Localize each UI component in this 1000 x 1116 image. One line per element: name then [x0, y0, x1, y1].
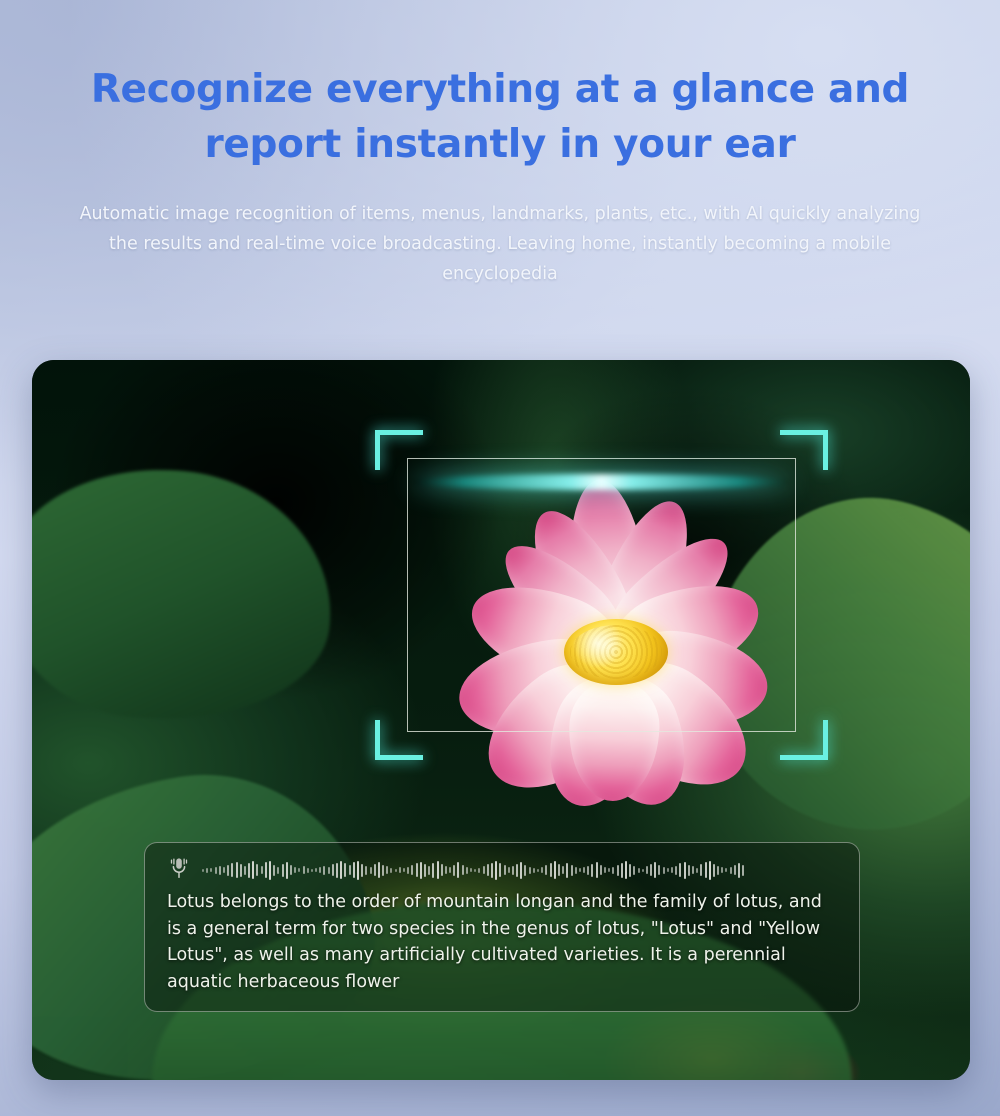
waveform-bar: [705, 862, 707, 878]
waveform-bar: [688, 865, 690, 876]
waveform-bar: [650, 864, 652, 876]
waveform-bar: [261, 866, 263, 874]
waveform-bar: [349, 865, 351, 875]
waveform-bar: [428, 866, 430, 875]
waveform-bar: [499, 863, 501, 877]
waveform-bar: [378, 862, 380, 878]
waveform-bar: [416, 863, 418, 877]
waveform-bar: [256, 864, 258, 876]
waveform-bar: [202, 869, 204, 872]
waveform-bar: [365, 866, 367, 875]
waveform-bar: [432, 863, 434, 878]
waveform-bar: [621, 863, 623, 878]
waveform-bar: [240, 864, 242, 877]
waveform-bar: [252, 861, 254, 879]
page-title: Recognize everything at a glance and rep…: [0, 62, 1000, 173]
scan-corner-top-left: [375, 430, 423, 470]
audio-waveform: [202, 859, 837, 881]
waveform-bar: [696, 868, 698, 873]
waveform-bar: [713, 864, 715, 877]
waveform-bar: [508, 867, 510, 873]
waveform-bar: [512, 866, 514, 875]
waveform-bar: [550, 863, 552, 877]
waveform-bar: [219, 866, 221, 875]
waveform-bar: [353, 862, 355, 878]
waveform-bar: [453, 865, 455, 876]
waveform-bar: [244, 866, 246, 875]
waveform-bar: [562, 866, 564, 874]
microphone-icon: [167, 856, 191, 884]
waveform-bar: [370, 867, 372, 874]
waveform-bar: [524, 865, 526, 876]
waveform-bar: [520, 862, 522, 879]
waveform-bar: [671, 867, 673, 873]
waveform-bar: [403, 868, 405, 872]
waveform-bar: [437, 861, 439, 879]
waveform-bar: [675, 866, 677, 875]
waveform-bar: [303, 866, 305, 874]
waveform-bar: [323, 866, 325, 875]
waveform-bar: [470, 868, 472, 872]
page-subtitle: Automatic image recognition of items, me…: [0, 199, 1000, 289]
waveform-bar: [407, 867, 409, 874]
waveform-bar: [273, 865, 275, 876]
waveform-bar: [730, 867, 732, 874]
waveform-bar: [529, 867, 531, 874]
waveform-bar: [478, 868, 480, 873]
waveform-bar: [738, 863, 740, 878]
waveform-bar: [684, 862, 686, 879]
waveform-bar: [336, 863, 338, 878]
scan-rectangle-border: [407, 458, 796, 732]
caption-panel-header: [167, 857, 837, 883]
waveform-bar: [617, 865, 619, 876]
waveform-bar: [642, 869, 644, 872]
waveform-bar: [629, 864, 631, 877]
waveform-bar: [541, 867, 543, 873]
waveform-bar: [210, 868, 212, 872]
scan-corner-bottom-left: [375, 720, 423, 760]
waveform-bar: [646, 866, 648, 874]
waveform-bar: [483, 866, 485, 874]
waveform-bar: [390, 868, 392, 873]
waveform-bar: [625, 861, 627, 879]
waveform-bar: [277, 867, 279, 874]
waveform-bar: [575, 867, 577, 874]
waveform-bar: [558, 864, 560, 876]
recognition-photo-card[interactable]: Lotus belongs to the order of mountain l…: [32, 360, 970, 1080]
waveform-bar: [286, 862, 288, 879]
waveform-bar: [457, 862, 459, 878]
waveform-bar: [449, 867, 451, 873]
waveform-bar: [491, 863, 493, 878]
waveform-bar: [545, 865, 547, 875]
waveform-bar: [612, 867, 614, 874]
waveform-bar: [399, 867, 401, 873]
waveform-bar: [231, 863, 233, 877]
waveform-bar: [424, 864, 426, 877]
waveform-bar: [462, 865, 464, 875]
waveform-bar: [583, 867, 585, 873]
waveform-bar: [495, 861, 497, 880]
waveform-bar: [725, 868, 727, 872]
scan-frame: [375, 430, 828, 760]
waveform-bar: [344, 863, 346, 877]
waveform-bar: [315, 868, 317, 872]
waveform-bar: [307, 868, 309, 873]
waveform-bar: [533, 868, 535, 873]
waveform-bar: [357, 861, 359, 880]
waveform-bar: [579, 868, 581, 872]
waveform-bar: [236, 862, 238, 878]
waveform-bar: [638, 868, 640, 873]
waveform-bar: [298, 868, 300, 872]
waveform-bar: [265, 862, 267, 878]
waveform-bar: [654, 862, 656, 878]
waveform-bar: [667, 868, 669, 872]
waveform-bar: [554, 861, 556, 879]
waveform-bar: [604, 867, 606, 873]
recognition-result-text: Lotus belongs to the order of mountain l…: [167, 889, 837, 995]
scan-line: [411, 474, 792, 490]
waveform-bar: [332, 864, 334, 876]
waveform-bar: [290, 865, 292, 875]
waveform-bar: [663, 867, 665, 874]
waveform-bar: [721, 867, 723, 873]
waveform-bar: [608, 868, 610, 872]
waveform-bar: [474, 869, 476, 872]
waveform-bar: [411, 865, 413, 875]
waveform-bar: [742, 865, 744, 876]
waveform-bar: [679, 863, 681, 877]
waveform-bar: [311, 869, 313, 872]
waveform-bar: [591, 864, 593, 877]
waveform-bar: [487, 864, 489, 876]
waveform-bar: [386, 866, 388, 874]
waveform-bar: [600, 865, 602, 875]
waveform-bar: [504, 865, 506, 875]
waveform-bar: [717, 866, 719, 875]
waveform-bar: [361, 864, 363, 877]
waveform-bar: [282, 864, 284, 877]
waveform-bar: [319, 867, 321, 873]
waveform-bar: [420, 862, 422, 879]
waveform-bar: [382, 865, 384, 876]
waveform-bar: [215, 867, 217, 874]
waveform-bar: [566, 863, 568, 878]
voice-caption-panel[interactable]: Lotus belongs to the order of mountain l…: [144, 842, 860, 1012]
waveform-bar: [248, 863, 250, 878]
waveform-bar: [340, 861, 342, 879]
waveform-bar: [466, 867, 468, 874]
waveform-bar: [374, 864, 376, 876]
waveform-bar: [516, 864, 518, 877]
waveform-bar: [227, 865, 229, 876]
scan-corner-bottom-right: [780, 720, 828, 760]
waveform-bar: [223, 867, 225, 873]
waveform-bar: [206, 868, 208, 873]
scan-corner-top-right: [780, 430, 828, 470]
waveform-bar: [734, 865, 736, 875]
waveform-bar: [633, 866, 635, 875]
waveform-bar: [441, 864, 443, 876]
waveform-bar: [658, 865, 660, 875]
waveform-bar: [328, 867, 330, 874]
waveform-bar: [692, 866, 694, 874]
waveform-bar: [395, 869, 397, 872]
waveform-bar: [269, 861, 271, 880]
waveform-bar: [700, 864, 702, 876]
waveform-bar: [709, 861, 711, 880]
waveform-bar: [537, 869, 539, 872]
waveform-bar: [587, 866, 589, 875]
waveform-bar: [571, 865, 573, 876]
waveform-bar: [294, 867, 296, 873]
hero-section: Recognize everything at a glance and rep…: [0, 0, 1000, 289]
waveform-bar: [596, 862, 598, 878]
waveform-bar: [445, 866, 447, 874]
